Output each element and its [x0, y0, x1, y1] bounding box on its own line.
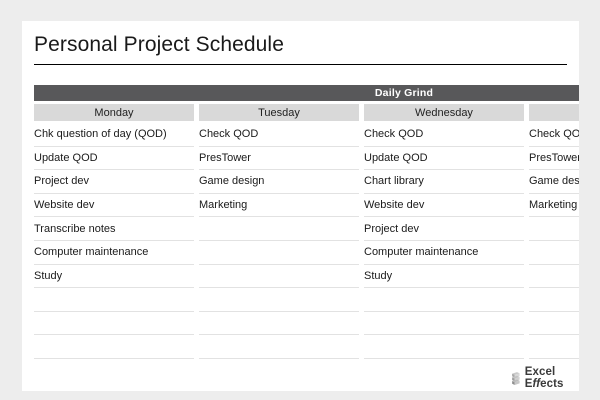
table-cell[interactable]	[529, 312, 579, 336]
table-cell[interactable]	[529, 265, 579, 289]
cell-text: Computer maintenance	[34, 246, 148, 258]
cell-text: Website dev	[34, 199, 94, 211]
page-title: Personal Project Schedule	[34, 32, 567, 58]
column-header-row: Monday Tuesday Wednesday Thursday	[34, 104, 579, 121]
table-cell[interactable]: Computer maintenance	[34, 241, 194, 265]
column-body-tuesday: Check QOD PresTower Game design Marketin…	[199, 123, 359, 359]
table-cell[interactable]	[34, 335, 194, 359]
table-cell[interactable]: Website dev	[364, 194, 524, 218]
table-cell[interactable]	[199, 217, 359, 241]
cell-text: Marketing	[529, 199, 577, 211]
excel-effects-label: Excel Effects	[525, 366, 579, 390]
table-cell[interactable]	[529, 288, 579, 312]
table-cell[interactable]: Game design	[199, 170, 359, 194]
column-body-wednesday: Check QOD Update QOD Chart library Websi…	[364, 123, 524, 359]
cell-text: Game design	[529, 175, 579, 187]
table-cell[interactable]: Update QOD	[364, 147, 524, 171]
table-cell[interactable]: Chk question of day (QOD)	[34, 123, 194, 147]
cell-text: Check QOD	[199, 128, 258, 140]
cell-text: Project dev	[34, 175, 89, 187]
table-cell[interactable]	[364, 335, 524, 359]
table-cell[interactable]: Project dev	[364, 217, 524, 241]
cell-text: Check QOD	[364, 128, 423, 140]
table-cell[interactable]	[364, 288, 524, 312]
column-body-thursday: Check QOD PresTower Game design Marketin…	[529, 123, 579, 359]
cell-text: Project dev	[364, 223, 419, 235]
column-header-tuesday[interactable]: Tuesday	[199, 104, 359, 121]
cell-text: Update QOD	[34, 152, 98, 164]
table-cell[interactable]	[529, 241, 579, 265]
table-cell[interactable]: Check QOD	[529, 123, 579, 147]
column-header-label: Monday	[94, 107, 133, 119]
column-header-label: Tuesday	[258, 107, 300, 119]
schedule-table-inner: Daily Grind Monday Tuesday Wednesday Thu…	[34, 85, 579, 359]
cell-text: Website dev	[364, 199, 424, 211]
table-cell[interactable]: PresTower	[199, 147, 359, 171]
logo-text-italic: ff	[532, 378, 540, 390]
cell-text: Update QOD	[364, 152, 428, 164]
table-cell[interactable]: Update QOD	[34, 147, 194, 171]
table-banner-label: Daily Grind	[375, 87, 433, 99]
table-cell[interactable]: Game design	[529, 170, 579, 194]
cell-text: Study	[34, 270, 62, 282]
table-cell[interactable]: Computer maintenance	[364, 241, 524, 265]
logo-text-suffix: ects	[540, 378, 563, 390]
title-divider	[34, 64, 567, 65]
cell-text: Transcribe notes	[34, 223, 116, 235]
column-header-label: Wednesday	[415, 107, 473, 119]
table-cell[interactable]	[199, 335, 359, 359]
table-cell[interactable]: Check QOD	[199, 123, 359, 147]
column-body-monday: Chk question of day (QOD) Update QOD Pro…	[34, 123, 194, 359]
table-body: Chk question of day (QOD) Update QOD Pro…	[34, 123, 579, 359]
table-cell[interactable]: Marketing	[199, 194, 359, 218]
table-cell[interactable]	[34, 312, 194, 336]
document-page: Personal Project Schedule Daily Grind Mo…	[22, 21, 579, 391]
table-cell[interactable]: Transcribe notes	[34, 217, 194, 241]
table-cell[interactable]: Marketing	[529, 194, 579, 218]
cell-text: Game design	[199, 175, 264, 187]
table-cell[interactable]	[34, 288, 194, 312]
table-cell[interactable]: PresTower	[529, 147, 579, 171]
stacked-blocks-icon	[511, 369, 521, 388]
cell-text: Chk question of day (QOD)	[34, 128, 167, 140]
table-cell[interactable]	[529, 217, 579, 241]
cell-text: Check QOD	[529, 128, 579, 140]
cell-text: Chart library	[364, 175, 424, 187]
table-cell[interactable]: Check QOD	[364, 123, 524, 147]
cell-text: Computer maintenance	[364, 246, 478, 258]
column-header-thursday[interactable]: Thursday	[529, 104, 579, 121]
table-cell[interactable]: Study	[364, 265, 524, 289]
table-cell[interactable]: Study	[34, 265, 194, 289]
table-cell[interactable]	[199, 241, 359, 265]
table-cell[interactable]: Website dev	[34, 194, 194, 218]
cell-text: PresTower	[529, 152, 579, 164]
table-cell[interactable]: Project dev	[34, 170, 194, 194]
table-cell[interactable]	[529, 335, 579, 359]
cell-text: Marketing	[199, 199, 247, 211]
column-header-wednesday[interactable]: Wednesday	[364, 104, 524, 121]
table-cell[interactable]	[199, 265, 359, 289]
column-header-monday[interactable]: Monday	[34, 104, 194, 121]
excel-effects-watermark: Excel Effects	[511, 366, 579, 390]
title-block: Personal Project Schedule	[34, 32, 567, 65]
table-cell[interactable]: Chart library	[364, 170, 524, 194]
schedule-table: Daily Grind Monday Tuesday Wednesday Thu…	[34, 85, 579, 377]
table-cell[interactable]	[199, 288, 359, 312]
table-banner: Daily Grind	[34, 85, 579, 101]
cell-text: PresTower	[199, 152, 251, 164]
table-cell[interactable]	[364, 312, 524, 336]
table-cell[interactable]	[199, 312, 359, 336]
cell-text: Study	[364, 270, 392, 282]
